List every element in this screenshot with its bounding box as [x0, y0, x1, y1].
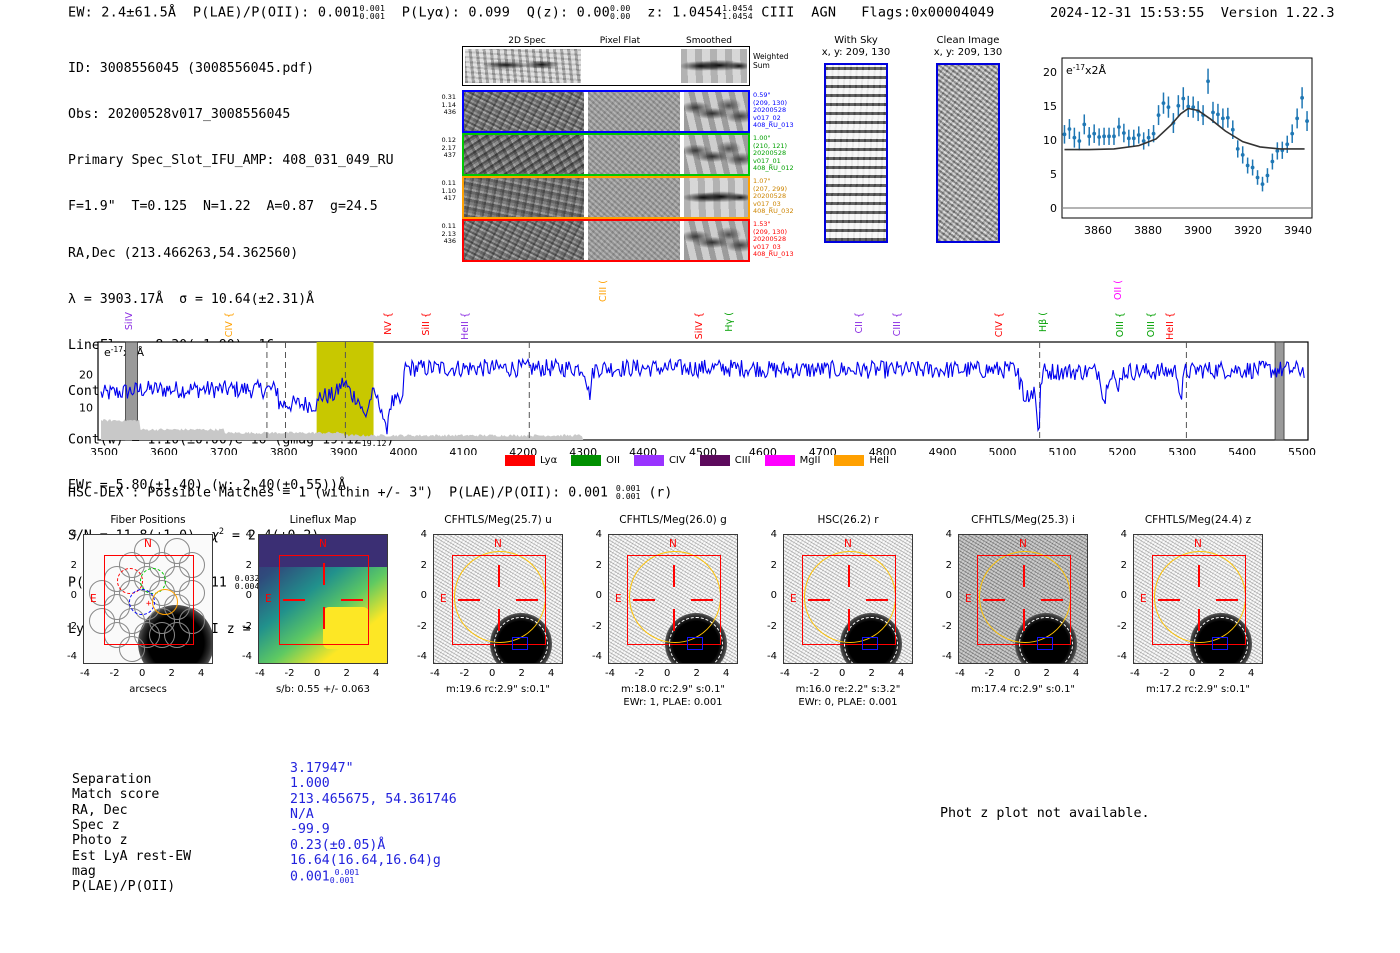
cutout-sub2-4: EWr: 0, PLAE: 0.001	[745, 697, 951, 708]
legend-label: MgII	[800, 455, 821, 466]
cutout-xtick: 4	[1073, 668, 1079, 679]
weighted-sum-smoothed	[681, 49, 747, 83]
cutout-yaxis-4: 420-2-4	[757, 529, 777, 659]
legend-label: CIV	[669, 455, 686, 466]
cutout-xtick: 4	[198, 668, 204, 679]
cutout-xtick: 0	[664, 668, 670, 679]
cutout-xtick: 2	[1219, 668, 1225, 679]
crosshair-v-bottom	[848, 609, 850, 631]
crosshair-v-top	[323, 563, 325, 585]
weighted-sum-2dspec	[465, 49, 581, 83]
legend-swatch	[834, 455, 864, 466]
header-flags: Flags:0x00004049	[861, 5, 994, 21]
svg-text:3860: 3860	[1084, 224, 1112, 237]
cutout-xaxis-3: -4-2024	[605, 668, 755, 682]
svg-text:4900: 4900	[929, 446, 957, 455]
info-lambda: λ = 3903.17Å σ = 10.64(±2.31)Å	[68, 292, 394, 307]
match-marker-box	[687, 637, 703, 650]
legend-label: CIII	[735, 455, 751, 466]
svg-text:3920: 3920	[1234, 224, 1262, 237]
cutout-ytick: 2	[421, 560, 427, 571]
cutout-xtick: -2	[985, 668, 995, 679]
cutout-xtick: -4	[780, 668, 790, 679]
cutout-ytick: 2	[1121, 560, 1127, 571]
crosshair-h-left	[808, 599, 830, 601]
clean-image-title: Clean Imagex, y: 209, 130	[928, 35, 1008, 59]
east-marker: E	[90, 593, 97, 605]
cutout-xtick: 2	[1044, 668, 1050, 679]
crosshair-v-bottom	[323, 607, 325, 629]
cutout-ytick: -4	[592, 651, 602, 662]
clean-image	[936, 63, 1000, 243]
svg-text:10: 10	[1043, 134, 1057, 147]
match-row-value: -99.9	[290, 822, 330, 837]
cutout-ytick: 0	[771, 590, 777, 601]
weighted-sum-row	[462, 46, 750, 86]
cutout-ytick: 4	[946, 529, 952, 540]
svg-text:5500: 5500	[1288, 446, 1316, 455]
legend-label: Lyα	[540, 455, 557, 466]
cutout-ytick: 4	[71, 529, 77, 540]
crosshair-v-top	[848, 565, 850, 587]
cutout-xtick: -2	[635, 668, 645, 679]
svg-text:4300: 4300	[569, 446, 597, 455]
cutout-panel-1[interactable]: NE	[258, 534, 388, 664]
match-row-key: Photo z	[72, 833, 128, 848]
weighted-sum-label: Weighted Sum	[753, 52, 789, 70]
cutout-panel-2[interactable]: NE	[433, 534, 563, 664]
cutout-xtick: -2	[110, 668, 120, 679]
spec2d-col-title-pixelflat: Pixel Flat	[585, 36, 655, 46]
fiber-row-2-right-labels: 1.00"(210, 121)20200528v017_01408_RU_012	[753, 135, 794, 173]
cutout-xtick: 4	[373, 668, 379, 679]
cutout-xaxis-5: -4-2024	[955, 668, 1105, 682]
legend-item-Ly: Lyα	[505, 455, 557, 466]
emission-label-OII-12: OII (	[1113, 280, 1124, 300]
legend-item-CIII: CIII	[700, 455, 751, 466]
legend-item-OII: OII	[571, 455, 620, 466]
cutout-ytick: 4	[1121, 529, 1127, 540]
north-marker: N	[144, 538, 152, 550]
crosshair-h-right	[341, 599, 363, 601]
cutout-ytick: 4	[246, 529, 252, 540]
fiber-row-4-pixelflat	[588, 221, 680, 260]
cutout-ytick: 2	[71, 560, 77, 571]
match-marker-box	[512, 637, 528, 650]
cutout-xtick: -2	[810, 668, 820, 679]
svg-text:4800: 4800	[869, 446, 897, 455]
cutout-ytick: 0	[71, 590, 77, 601]
crosshair-h-left	[1158, 599, 1180, 601]
match-row-key: mag	[72, 864, 96, 879]
cutout-title-6: CFHTLS/Meg(24.4) z	[1095, 514, 1301, 526]
cutout-xtick: -4	[1130, 668, 1140, 679]
cutout-ytick: 0	[246, 590, 252, 601]
cutout-xtick: 2	[694, 668, 700, 679]
legend-swatch	[765, 455, 795, 466]
crosshair-v-bottom	[498, 609, 500, 631]
match-row-value: 213.465675, 54.361746	[290, 792, 457, 807]
svg-text:4100: 4100	[449, 446, 477, 455]
cutout-xtick: 0	[139, 668, 145, 679]
match-row-value: 3.17947"	[290, 761, 354, 776]
north-marker: N	[669, 538, 677, 550]
fiber-row-2-smoothed	[684, 135, 748, 174]
cutout-xtick: -2	[460, 668, 470, 679]
weighted-sum-pixelflat	[583, 49, 679, 83]
svg-text:3900: 3900	[330, 446, 358, 455]
fiber-row-4-left-labels: 0.112.13436	[428, 223, 456, 246]
cutout-ytick: -2	[417, 621, 427, 632]
cutout-ytick: -4	[942, 651, 952, 662]
east-marker: E	[1140, 593, 1147, 605]
crosshair-v-top	[498, 565, 500, 587]
fiber-row-3-smoothed	[684, 178, 748, 217]
match-row-key: Separation	[72, 772, 151, 787]
cutout-ytick: -4	[67, 651, 77, 662]
svg-text:10: 10	[79, 401, 93, 414]
east-marker: E	[790, 593, 797, 605]
header-qz-errors: 0.000.00	[610, 4, 631, 21]
crosshair-h-right	[516, 599, 538, 601]
fiber-row-4	[462, 219, 750, 262]
cutout-ytick: -4	[767, 651, 777, 662]
info-primary-spec: Primary Spec_Slot_IFU_AMP: 408_031_049_R…	[68, 153, 394, 168]
svg-text:5300: 5300	[1168, 446, 1196, 455]
fiber-row-1-right-labels: 0.59"(209, 130)20200528v017_02408_RU_013	[753, 92, 794, 130]
match-row-key: RA, Dec	[72, 803, 128, 818]
cutout-xtick: 0	[314, 668, 320, 679]
line-fit-xaxis: 3860 3880 3900 3920 3940	[1084, 224, 1312, 237]
cutout-xaxis-2: -4-2024	[430, 668, 580, 682]
svg-text:5100: 5100	[1048, 446, 1076, 455]
info-obs: Obs: 20200528v017_3008556045	[68, 107, 394, 122]
cutout-xtick: 0	[489, 668, 495, 679]
crosshair-v-bottom	[1198, 609, 1200, 631]
east-marker: E	[965, 593, 972, 605]
cutout-ytick: 4	[596, 529, 602, 540]
east-marker: E	[440, 593, 447, 605]
match-row-value: 1.000	[290, 776, 330, 791]
svg-text:20: 20	[1043, 66, 1057, 79]
svg-text:3600: 3600	[150, 446, 178, 455]
crosshair-v-bottom	[673, 609, 675, 631]
crosshair-h-left	[983, 599, 1005, 601]
cutout-panel-3[interactable]: NE	[608, 534, 738, 664]
cutout-xtick: -2	[1160, 668, 1170, 679]
cutout-ytick: 2	[246, 560, 252, 571]
header-plae-errors: 0.0010.001	[359, 4, 385, 21]
match-row-key: Spec z	[72, 818, 120, 833]
svg-text:3940: 3940	[1284, 224, 1312, 237]
match-marker-box	[862, 637, 878, 650]
legend-item-MgII: MgII	[765, 455, 821, 466]
cutout-xtick: 4	[548, 668, 554, 679]
fiber-row-3	[462, 176, 750, 219]
crosshair-v-top	[1023, 565, 1025, 587]
cutout-ytick: 0	[1121, 590, 1127, 601]
svg-text:5000: 5000	[989, 446, 1017, 455]
cutout-xtick: 4	[723, 668, 729, 679]
cutout-ytick: 2	[946, 560, 952, 571]
crosshair-v-bottom	[1023, 609, 1025, 631]
cutout-ytick: 0	[421, 590, 427, 601]
match-row-key: P(LAE)/P(OII)	[72, 879, 175, 894]
cutout-ytick: -2	[242, 621, 252, 632]
north-marker: N	[494, 538, 502, 550]
match-row-value: 0.001 0.0010.001	[290, 868, 359, 885]
info-radec: RA,Dec (213.466263,54.362560)	[68, 246, 394, 261]
crosshair-h-right	[691, 599, 713, 601]
legend-swatch	[571, 455, 601, 466]
fiber-row-1-smoothed	[684, 92, 748, 131]
legend-swatch	[700, 455, 730, 466]
cutout-ytick: 4	[421, 529, 427, 540]
match-marker-box	[1037, 637, 1053, 650]
svg-text:5400: 5400	[1228, 446, 1256, 455]
svg-text:5: 5	[1050, 168, 1057, 181]
svg-text:20: 20	[79, 369, 93, 382]
north-marker: N	[1019, 538, 1027, 550]
crosshair-v-top	[1198, 565, 1200, 587]
cutout-ytick: 2	[596, 560, 602, 571]
east-marker: E	[615, 593, 622, 605]
fiber-row-1-pixelflat	[588, 92, 680, 131]
cutout-xtick: -4	[955, 668, 965, 679]
cutout-panel-5[interactable]: NE	[958, 534, 1088, 664]
legend-swatch	[505, 455, 535, 466]
cutout-yaxis-3: 420-2-4	[582, 529, 602, 659]
match-row-value: 0.23(±0.05)Å	[290, 838, 385, 853]
legend-item-HeII: HeII	[834, 455, 889, 466]
fiber-row-3-pixelflat	[588, 178, 680, 217]
svg-text:3500: 3500	[90, 446, 118, 455]
cutout-panel-4[interactable]: NE	[783, 534, 913, 664]
cutout-xaxis-1: -4-2024	[255, 668, 405, 682]
cutout-xtick: -4	[605, 668, 615, 679]
emission-label-CIII-5: CIII (	[598, 280, 609, 302]
legend-label: HeII	[869, 455, 889, 466]
header-plya: P(Lyα): 0.099	[402, 5, 510, 21]
svg-text:5200: 5200	[1108, 446, 1136, 455]
cutout-xtick: 2	[869, 668, 875, 679]
header-qz: Q(z): 0.00	[527, 5, 610, 21]
svg-text:4200: 4200	[509, 446, 537, 455]
header-plae: P(LAE)/P(OII): 0.001	[193, 5, 360, 21]
svg-text:15: 15	[1043, 100, 1057, 113]
header-timestamp-block: 2024-12-31 15:53:55 Version 1.22.3	[1050, 5, 1335, 21]
cutout-ytick: -2	[592, 621, 602, 632]
cutout-ytick: 2	[771, 560, 777, 571]
cutout-ytick: 4	[771, 529, 777, 540]
cutout-ytick: 0	[596, 590, 602, 601]
north-marker: N	[844, 538, 852, 550]
header-z: z: 1.0454	[647, 5, 722, 21]
cutout-xtick: 4	[1248, 668, 1254, 679]
cutout-xtick: -4	[430, 668, 440, 679]
cutout-xtick: -4	[255, 668, 265, 679]
cutout-xtick: -2	[285, 668, 295, 679]
cutout-xtick: 0	[839, 668, 845, 679]
with-sky-title: With Skyx, y: 209, 130	[820, 35, 892, 59]
cutout-ytick: 0	[946, 590, 952, 601]
cutout-xtick: 4	[898, 668, 904, 679]
svg-text:4400: 4400	[629, 446, 657, 455]
match-row-value: N/A	[290, 807, 314, 822]
cutout-xtick: 2	[519, 668, 525, 679]
spectrum-yaxis: 1020	[79, 369, 93, 415]
cutout-xaxis-6: -4-2024	[1130, 668, 1280, 682]
svg-text:4500: 4500	[689, 446, 717, 455]
svg-text:4700: 4700	[809, 446, 837, 455]
emission-label-SiIV-0: SiIV	[124, 312, 135, 330]
fiber-row-4-right-labels: 1.53"(209, 130)20200528v017_03408_RU_013	[753, 221, 794, 259]
crosshair-h-right	[1041, 599, 1063, 601]
match-row-value: 16.64(16.64,16.64)g	[290, 853, 441, 868]
match-marker-box	[1212, 637, 1228, 650]
crosshair-h-left	[458, 599, 480, 601]
cutout-xtick: 0	[1189, 668, 1195, 679]
cutout-sub1-6: m:17.2 rc:2.9" s:0.1"	[1095, 684, 1301, 695]
cutout-ytick: -2	[67, 621, 77, 632]
cutout-xtick: 2	[169, 668, 175, 679]
cutout-ytick: -4	[242, 651, 252, 662]
cutout-ytick: -2	[767, 621, 777, 632]
header-summary-line: EW: 2.4±61.5Å P(LAE)/P(OII): 0.0010.0010…	[68, 4, 994, 21]
crosshair-h-left	[633, 599, 655, 601]
crosshair-h-left	[283, 599, 305, 601]
full-spectrum-plot: e-17x2Å 1020 350036003700380039004000410…	[60, 330, 1320, 455]
fiber-row-4-2dspec	[464, 221, 584, 260]
svg-text:4000: 4000	[389, 446, 417, 455]
emission-label-H-7: Hγ (	[724, 312, 735, 332]
fiber-row-3-right-labels: 1.07"(207, 299)20200528v017_03408_RU_032	[753, 178, 794, 216]
legend-item-CIV: CIV	[634, 455, 686, 466]
fiber-row-3-2dspec	[464, 178, 584, 217]
cutout-ytick: -4	[417, 651, 427, 662]
source-marker: +	[146, 599, 151, 609]
fiber-row-4-smoothed	[684, 221, 748, 260]
cutout-ytick: -2	[1117, 621, 1127, 632]
fiber-row-2	[462, 133, 750, 176]
cutout-yaxis-0: 420-2-4	[57, 529, 77, 659]
header-ew: EW: 2.4±61.5Å	[68, 5, 176, 21]
info-id: ID: 3008556045 (3008556045.pdf)	[68, 61, 394, 76]
fiber-row-1-left-labels: 0.311.14436	[428, 94, 456, 117]
cutout-xtick: -4	[80, 668, 90, 679]
timestamp: 2024-12-31 15:53:55	[1050, 5, 1204, 21]
cutout-yaxis-6: 420-2-4	[1107, 529, 1127, 659]
line-fit-plot: e-17x2Å 20 15 10 5 0 3860 3880 3900 3920…	[1020, 52, 1320, 257]
legend-swatch	[634, 455, 664, 466]
cutout-xaxis-0: -4-2024	[80, 668, 230, 682]
line-fit-flux-unit: e-17x2Å	[1066, 63, 1107, 78]
spec2d-col-title-smoothed: Smoothed	[672, 36, 746, 46]
north-marker: N	[319, 538, 327, 550]
crosshair-v-top	[673, 565, 675, 587]
cutout-panel-0[interactable]: +NE	[83, 534, 213, 664]
cutout-xtick: 0	[1014, 668, 1020, 679]
svg-text:3700: 3700	[210, 446, 238, 455]
cutout-xaxis-4: -4-2024	[780, 668, 930, 682]
crosshair-h-right	[1216, 599, 1238, 601]
svg-text:3900: 3900	[1184, 224, 1212, 237]
spectrum-xaxis: 3500360037003800390040004100420043004400…	[90, 446, 1316, 455]
north-marker: N	[1194, 538, 1202, 550]
east-marker: E	[265, 593, 272, 605]
svg-text:3800: 3800	[270, 446, 298, 455]
match-row-key: Est LyA rest-EW	[72, 849, 191, 864]
fiber-row-1	[462, 90, 750, 133]
cutout-ytick: -2	[942, 621, 952, 632]
header-class: AGN	[811, 5, 836, 21]
hsc-dex-line: HSC-DEX : Possible Matches = 1 (within +…	[68, 484, 672, 501]
info-seeing: F=1.9" T=0.125 N=1.22 A=0.87 g=24.5	[68, 199, 394, 214]
header-line-id: CIII	[761, 5, 794, 21]
cutout-yaxis-1: 420-2-4	[232, 529, 252, 659]
photz-note: Phot z plot not available.	[940, 806, 1150, 821]
fiber-row-1-2dspec	[464, 92, 584, 131]
cutout-ytick: -4	[1117, 651, 1127, 662]
cutout-xtick: 2	[344, 668, 350, 679]
svg-text:0: 0	[1050, 202, 1057, 215]
match-row-key: Match score	[72, 787, 159, 802]
with-sky-image	[824, 63, 888, 243]
svg-text:4600: 4600	[749, 446, 777, 455]
cutout-panel-6[interactable]: NE	[1133, 534, 1263, 664]
legend-label: OII	[606, 455, 620, 466]
header-z-errors: 1.04541.0454	[722, 4, 753, 21]
fiber-row-2-pixelflat	[588, 135, 680, 174]
fiber-row-2-2dspec	[464, 135, 584, 174]
svg-text:e-17x2Å: e-17x2Å	[104, 345, 145, 360]
svg-text:3880: 3880	[1134, 224, 1162, 237]
spectrum-legend: LyαOIICIVCIIIMgIIHeII	[505, 455, 889, 466]
fiber-row-2-left-labels: 0.122.17437	[428, 137, 456, 160]
spec2d-col-title-2dspec: 2D Spec	[492, 36, 562, 46]
fiber-row-3-left-labels: 0.111.10417	[428, 180, 456, 203]
version: Version 1.22.3	[1221, 5, 1335, 21]
cutout-yaxis-2: 420-2-4	[407, 529, 427, 659]
cutout-yaxis-5: 420-2-4	[932, 529, 952, 659]
crosshair-h-right	[866, 599, 888, 601]
